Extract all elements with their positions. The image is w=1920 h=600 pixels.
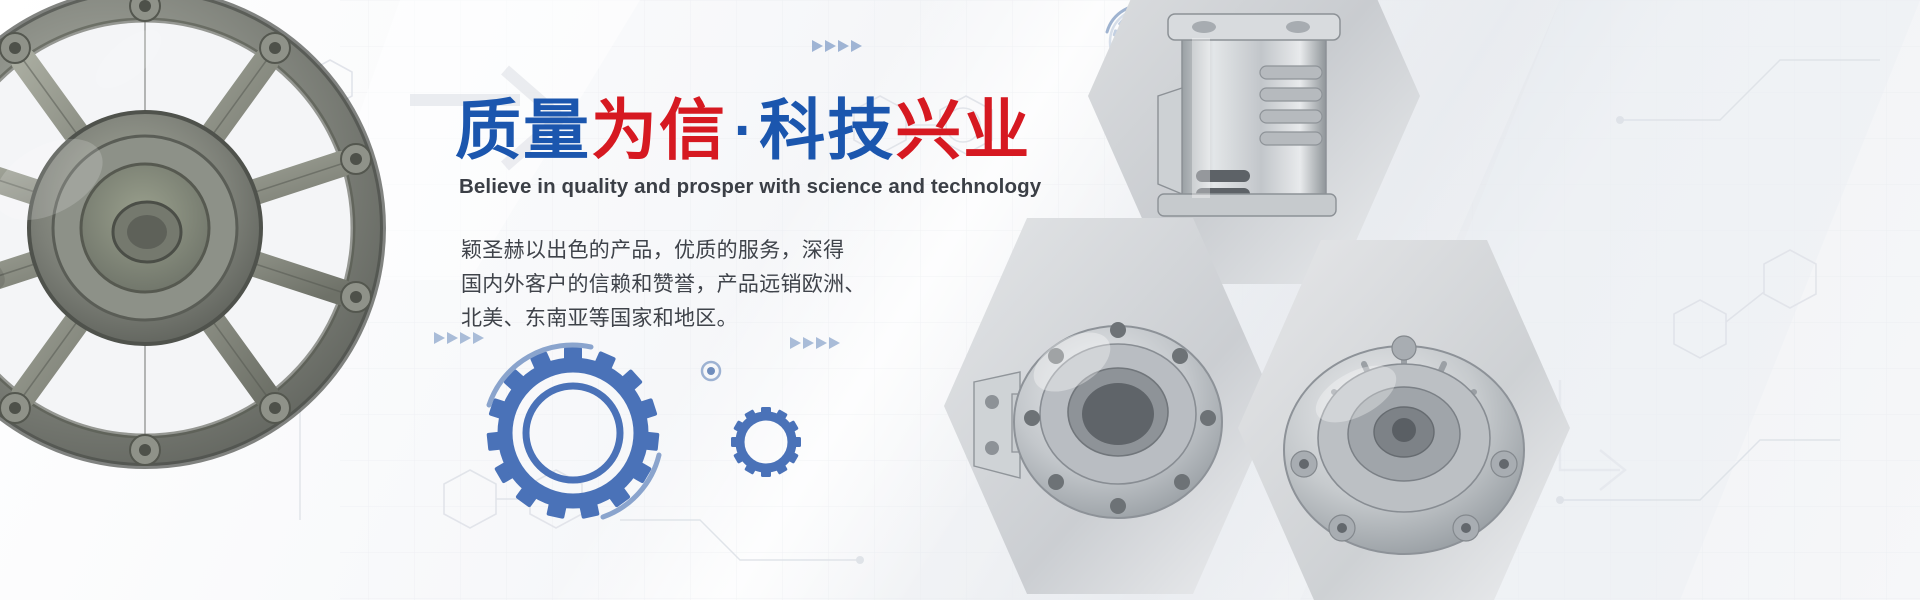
headline-separator-dot: ·	[727, 103, 759, 159]
chevron-arrows-icon	[812, 38, 872, 59]
headline-segment-3: 科技	[759, 92, 895, 169]
banner-text-block: 质量为信·科技兴业 Believe in quality and prosper…	[455, 96, 1075, 335]
headline-segment-2: 为信	[591, 92, 727, 169]
metal-casting-wheel-photo	[0, 0, 410, 500]
headline-segment-1: 质量	[455, 92, 591, 169]
paragraph-line: 颖圣赫以出色的产品，优质的服务，深得	[461, 233, 1075, 267]
chevron-arrows-icon	[790, 335, 850, 356]
promo-banner: 质量为信·科技兴业 Believe in quality and prosper…	[0, 0, 1920, 600]
target-dot-icon	[700, 360, 722, 387]
headline-subtitle-english: Believe in quality and prosper with scie…	[459, 175, 1075, 199]
gear-icon	[728, 404, 804, 485]
paragraph-line: 国内外客户的信赖和赞誉，产品远销欧洲、	[461, 267, 1075, 301]
page-title: 质量为信·科技兴业	[455, 96, 1075, 165]
chevron-arrows-icon	[434, 330, 494, 351]
headline-segment-4: 兴业	[895, 92, 1031, 169]
gear-icon	[478, 338, 668, 533]
